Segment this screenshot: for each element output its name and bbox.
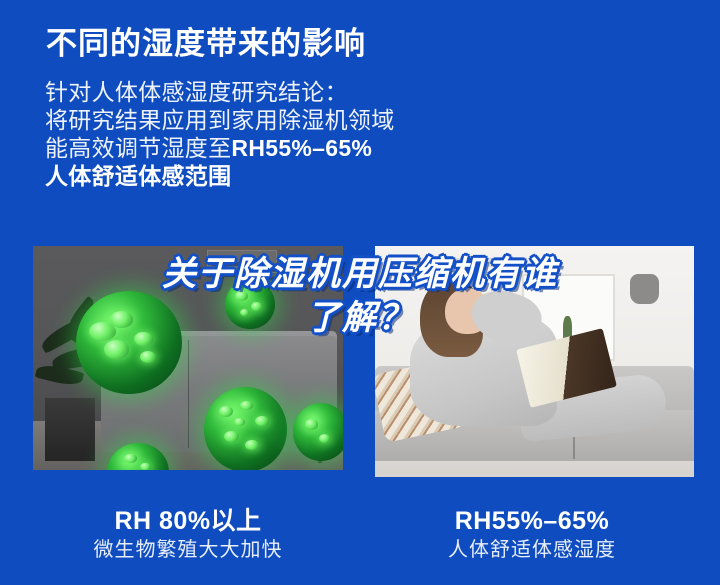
microbe-dot bbox=[104, 340, 129, 359]
caption-left-subtitle: 微生物繁殖大大加快 bbox=[38, 536, 338, 564]
caption-right-subtitle: 人体舒适体感湿度 bbox=[382, 536, 682, 564]
wall-picture-frame bbox=[207, 250, 277, 272]
microbe-dot bbox=[224, 431, 239, 442]
caption-left-title: RH 80%以上 bbox=[38, 506, 338, 536]
microbe-dot bbox=[240, 309, 249, 316]
microbe-dot bbox=[140, 351, 157, 363]
microbe-dot bbox=[219, 406, 233, 417]
sofa-seam bbox=[188, 340, 189, 448]
microbe-sphere-small bbox=[225, 280, 275, 329]
microbe-dot bbox=[305, 419, 318, 429]
microbe-dot bbox=[234, 418, 246, 427]
intro-line-4: 人体舒适体感范围 bbox=[45, 162, 665, 190]
microbe-dot bbox=[251, 302, 262, 310]
intro-line-3-range: RH55%–65% bbox=[231, 135, 372, 161]
microbe-dot bbox=[319, 434, 330, 443]
microbe-dot bbox=[245, 440, 258, 450]
photo-left-high-humidity bbox=[33, 246, 343, 470]
microbe-dot bbox=[140, 463, 151, 470]
microbe-dot bbox=[255, 416, 268, 426]
microbe-dot bbox=[134, 332, 153, 346]
photo-right-comfort-humidity bbox=[375, 246, 694, 477]
humidity-infographic-poster: 不同的湿度带来的影响 针对人体体感湿度研究结论： 将研究结果应用到家用除湿机领域… bbox=[0, 0, 720, 585]
microbe-dot bbox=[235, 291, 248, 301]
intro-line-3: 能高效调节湿度至RH55%–65% bbox=[45, 134, 665, 162]
caption-right-title: RH55%–65% bbox=[382, 506, 682, 536]
plant-pot bbox=[45, 398, 95, 461]
microbe-sphere-large bbox=[76, 291, 181, 394]
microbe-dot bbox=[124, 454, 138, 463]
microbe-dot bbox=[240, 401, 253, 410]
intro-paragraph: 针对人体体感湿度研究结论： 将研究结果应用到家用除湿机领域 能高效调节湿度至RH… bbox=[45, 78, 665, 190]
wall-speaker bbox=[630, 274, 659, 304]
intro-line-2: 将研究结果应用到家用除湿机领域 bbox=[45, 106, 665, 134]
caption-right: RH55%–65% 人体舒适体感湿度 bbox=[382, 506, 682, 564]
page-title: 不同的湿度带来的影响 bbox=[46, 18, 366, 63]
microbe-sphere-edge bbox=[293, 403, 343, 461]
intro-line-3-text: 能高效调节湿度至 bbox=[45, 135, 231, 161]
wall-shelf bbox=[416, 258, 524, 267]
caption-left: RH 80%以上 微生物繁殖大大加快 bbox=[38, 506, 338, 564]
microbe-sphere-medium bbox=[204, 387, 288, 470]
intro-line-1: 针对人体体感湿度研究结论： bbox=[45, 78, 665, 106]
microbe-dot bbox=[110, 311, 133, 327]
